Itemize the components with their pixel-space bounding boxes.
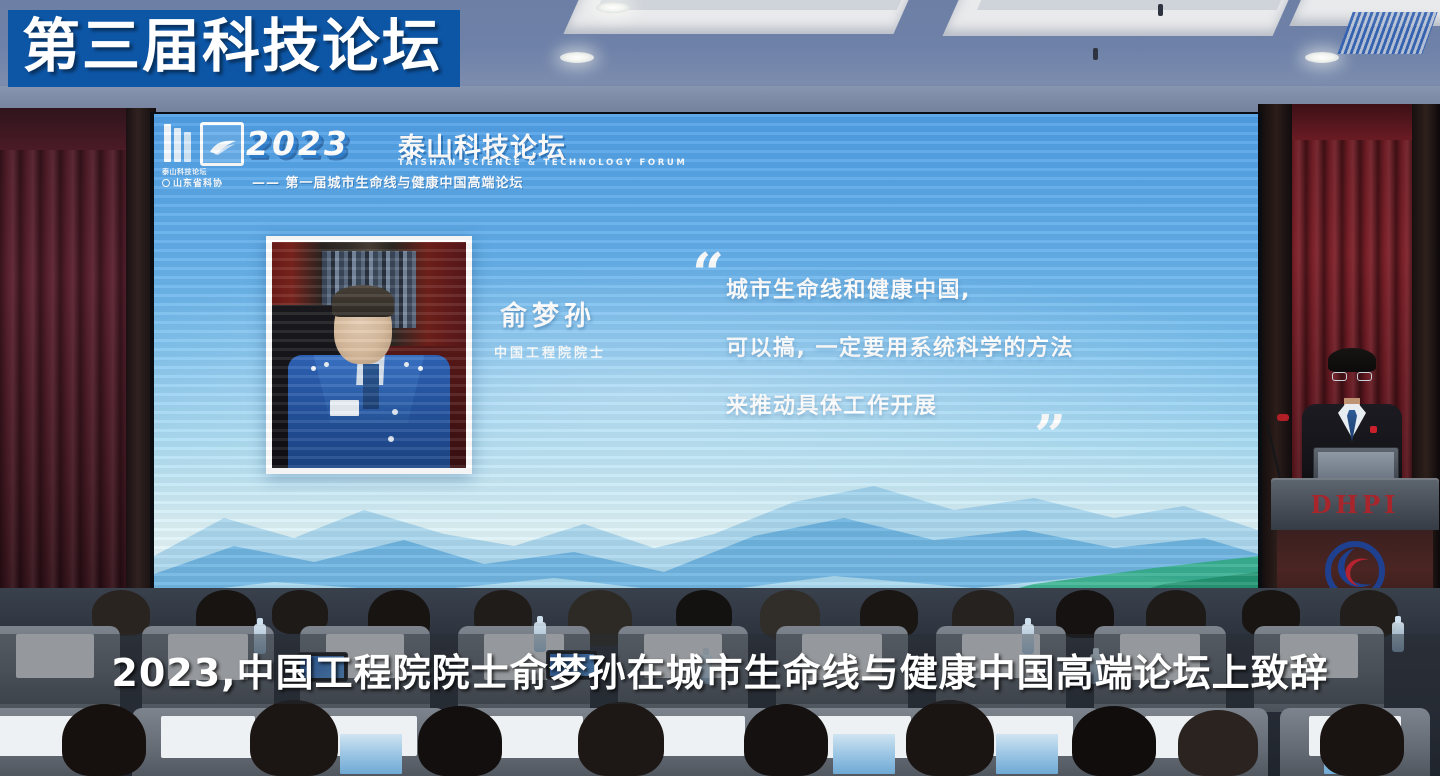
speaker-glasses-icon: [1332, 372, 1372, 381]
audience-head: [250, 700, 338, 776]
slide-forum-title-en: TAISHAN SCIENCE & TECHNOLOGY FORUM: [398, 158, 687, 168]
audience-head: [744, 704, 828, 776]
slide-speaker-title: 中国工程院院士: [494, 342, 606, 361]
seat-headrest-cover: [489, 716, 583, 758]
seat-headrest-cover: [653, 716, 745, 756]
portrait-hair: [332, 285, 394, 317]
quote-line: 城市生命线和健康中国,: [726, 272, 1226, 304]
left-curtain-valance: [0, 108, 140, 150]
audience-head: [62, 704, 146, 776]
slide-speaker-name: 俞梦孙: [500, 294, 596, 333]
speaker-portrait-frame: [266, 236, 472, 474]
broadcast-still: 泰山科技论坛 山东省科协 2023 泰山科技论坛 TAISHAN SCIENCE…: [0, 0, 1440, 776]
slide-forum-subtitle: —— 第一届城市生命线与健康中国高端论坛: [252, 172, 524, 191]
portrait-epaulette-star: [404, 362, 409, 367]
logo-association-label: 山东省科协: [173, 179, 223, 189]
seat-leaflet: [340, 734, 402, 774]
logo-ring-icon: [162, 179, 170, 187]
seat-leaflet: [996, 734, 1058, 774]
ceiling-downlight: [596, 2, 630, 13]
seat-leaflet: [833, 734, 895, 774]
ceiling-coffer-inner: [597, 0, 903, 10]
portrait-epaulette-star: [418, 366, 423, 371]
title-banner-text: 第三届科技论坛: [22, 16, 442, 77]
title-banner: 第三届科技论坛: [8, 10, 460, 87]
ceiling-downlight: [1305, 52, 1339, 63]
left-curtain: [0, 108, 140, 668]
slide-year: 2023: [246, 124, 350, 163]
slide-quote: 城市生命线和健康中国, 可以搞, 一定要用系统科学的方法 来推动具体工作开展: [726, 272, 1226, 446]
speaker-hair: [1328, 348, 1376, 372]
audience-head: [1320, 704, 1404, 776]
audience-head: [906, 700, 994, 776]
logo-bird-icon: [208, 138, 238, 156]
quote-line: 可以搞, 一定要用系统科学的方法: [726, 330, 1226, 362]
portrait-rank-badge: [330, 400, 359, 416]
audience-head: [1072, 706, 1156, 776]
ceiling-coffer-inner: [977, 0, 1283, 10]
audience-head: [1178, 710, 1258, 776]
logo-subtext-association: 山东省科协: [162, 176, 223, 189]
podium-label: DHPI: [1271, 490, 1439, 519]
audience-head: [578, 702, 664, 776]
audience-head: [418, 706, 502, 776]
caption-text: 2023,中国工程院院士俞梦孙在城市生命线与健康中国高端论坛上致辞: [0, 634, 1440, 704]
right-curtain-valance: [1288, 104, 1420, 140]
hvac-vent: [1337, 12, 1437, 54]
ceiling-downlight: [560, 52, 594, 63]
sprinkler-head: [1093, 48, 1098, 60]
sprinkler-head: [1158, 4, 1163, 16]
microphone-head: [1277, 414, 1289, 421]
quote-line: 来推动具体工作开展: [726, 388, 1226, 420]
logo-bars: [164, 124, 191, 162]
laptop-screen: [1318, 452, 1394, 480]
quote-open-mark: “: [692, 246, 724, 302]
quote-close-mark: ”: [1034, 408, 1066, 464]
led-screen: 泰山科技论坛 山东省科协 2023 泰山科技论坛 TAISHAN SCIENCE…: [154, 114, 1258, 616]
seat-headrest-cover: [161, 716, 255, 758]
portrait-tie: [363, 364, 379, 409]
speaker-portrait-photo: [272, 242, 466, 468]
slide-header: 泰山科技论坛 山东省科协 2023 泰山科技论坛 TAISHAN SCIENCE…: [160, 120, 620, 194]
speaker-lapel-pin: [1370, 426, 1377, 433]
